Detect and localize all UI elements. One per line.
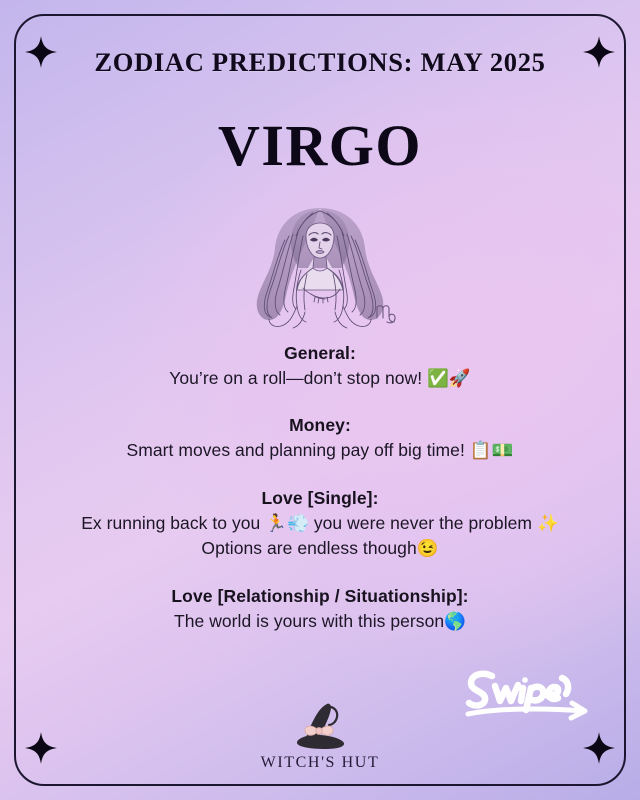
section-body: Ex running back to you 🏃💨 you were never… bbox=[0, 511, 640, 562]
poster-kicker-title: ZODIAC PREDICTIONS: MAY 2025 bbox=[0, 47, 640, 78]
brand-logo: WITCH'S HUT bbox=[235, 701, 405, 772]
zodiac-prediction-poster: ZODIAC PREDICTIONS: MAY 2025 VIRGO bbox=[0, 0, 640, 800]
section-general: General: You’re on a roll—don’t stop now… bbox=[0, 341, 640, 391]
zodiac-sign-title: VIRGO bbox=[0, 117, 640, 175]
section-body: Smart moves and planning pay off big tim… bbox=[0, 438, 640, 464]
section-heading: Money: bbox=[0, 413, 640, 438]
four-point-star-icon-bottom-right bbox=[583, 732, 615, 764]
predictions-list: General: You’re on a roll—don’t stop now… bbox=[0, 341, 640, 634]
swipe-call-to-action[interactable] bbox=[462, 666, 598, 728]
section-love-relationship: Love [Relationship / Situationship]: The… bbox=[0, 584, 640, 634]
pink-bow-icon bbox=[305, 726, 333, 735]
swipe-handwritten-text bbox=[469, 674, 568, 710]
virgo-maiden-illustration bbox=[227, 196, 413, 332]
section-body-line: You’re on a roll—don’t stop now! ✅🚀 bbox=[26, 366, 614, 392]
section-body-line: The world is yours with this person🌎 bbox=[26, 609, 614, 635]
section-heading: Love [Single]: bbox=[0, 486, 640, 511]
section-body-line: Smart moves and planning pay off big tim… bbox=[26, 438, 614, 464]
section-money: Money: Smart moves and planning pay off … bbox=[0, 413, 640, 463]
section-love-single: Love [Single]: Ex running back to you 🏃💨… bbox=[0, 486, 640, 562]
section-body-line: Ex running back to you 🏃💨 you were never… bbox=[26, 511, 614, 537]
section-heading: Love [Relationship / Situationship]: bbox=[0, 584, 640, 609]
section-body-line: Options are endless though😉 bbox=[26, 536, 614, 562]
section-heading: General: bbox=[0, 341, 640, 366]
section-body: The world is yours with this person🌎 bbox=[0, 609, 640, 635]
four-point-star-icon-bottom-left bbox=[25, 732, 57, 764]
section-body: You’re on a roll—don’t stop now! ✅🚀 bbox=[0, 366, 640, 392]
brand-name: WITCH'S HUT bbox=[235, 754, 405, 772]
witch-hat-icon bbox=[287, 701, 353, 753]
